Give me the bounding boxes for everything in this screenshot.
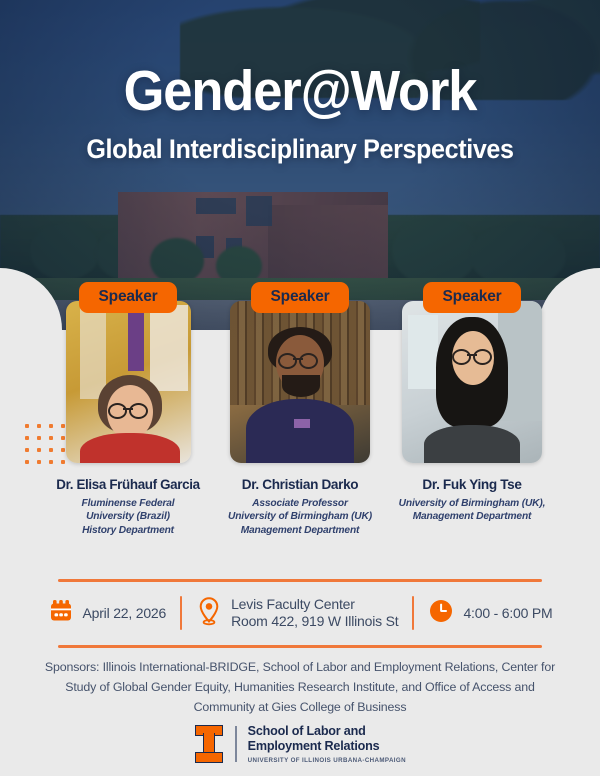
logo-line-1: School of Labor and bbox=[248, 724, 406, 739]
speaker-name: Dr. Fuk Ying Tse bbox=[422, 477, 521, 492]
logo-divider bbox=[235, 726, 237, 762]
detail-location: Levis Faculty Center Room 422, 919 W Ill… bbox=[182, 596, 412, 631]
speaker-card: Speaker Dr. Christian Darko Associate Pr… bbox=[226, 282, 374, 537]
speaker-badge: Speaker bbox=[423, 282, 522, 313]
speaker-affiliation: Fluminense FederalUniversity (Brazil)His… bbox=[82, 497, 175, 537]
speaker-affiliation: University of Birmingham (UK),Management… bbox=[399, 497, 546, 524]
poster-subtitle: Global Interdisciplinary Perspectives bbox=[21, 134, 579, 165]
calendar-icon bbox=[48, 598, 74, 629]
speaker-badge: Speaker bbox=[79, 282, 178, 313]
venue-line-1: Levis Faculty Center bbox=[231, 596, 398, 613]
poster-title: Gender@Work bbox=[24, 62, 576, 120]
logo-line-2: Employment Relations bbox=[248, 739, 406, 754]
illinois-block-i-logo bbox=[194, 724, 224, 764]
title-block: Gender@Work Global Interdisciplinary Per… bbox=[0, 62, 600, 165]
detail-time: 4:00 - 6:00 PM bbox=[414, 598, 566, 629]
detail-date: April 22, 2026 bbox=[34, 598, 181, 629]
divider-rule-bottom bbox=[58, 645, 542, 648]
speaker-photo bbox=[230, 301, 370, 463]
speaker-badge: Speaker bbox=[251, 282, 350, 313]
logo-line-3: UNIVERSITY OF ILLINOIS URBANA-CHAMPAIGN bbox=[248, 757, 406, 764]
speaker-photo bbox=[66, 301, 191, 463]
location-pin-icon bbox=[196, 596, 222, 631]
sponsors-text: Sponsors: Illinois International-BRIDGE,… bbox=[42, 657, 558, 717]
footer-logo-block: School of Labor and Employment Relations… bbox=[0, 724, 600, 764]
speaker-name: Dr. Elisa Frühauf Garcia bbox=[56, 477, 199, 492]
event-details: April 22, 2026 Levis Faculty Center Room… bbox=[0, 589, 600, 637]
divider-rule-top bbox=[58, 579, 542, 582]
speaker-card: Speaker Dr. Elisa Frühauf Garcia Flumine… bbox=[54, 282, 202, 537]
speaker-card: Speaker Dr. Fuk Ying Tse University of B… bbox=[398, 282, 546, 537]
time-text: 4:00 - 6:00 PM bbox=[463, 605, 552, 622]
logo-wordmark: School of Labor and Employment Relations… bbox=[248, 724, 406, 764]
speaker-affiliation: Associate ProfessorUniversity of Birming… bbox=[228, 497, 372, 537]
venue-line-2: Room 422, 919 W Illinois St bbox=[231, 613, 398, 630]
speaker-photo bbox=[402, 301, 542, 463]
speaker-list: Speaker Dr. Elisa Frühauf Garcia Flumine… bbox=[0, 282, 600, 537]
venue-text: Levis Faculty Center Room 422, 919 W Ill… bbox=[231, 596, 398, 630]
clock-icon bbox=[428, 598, 454, 629]
date-text: April 22, 2026 bbox=[83, 605, 167, 622]
speaker-name: Dr. Christian Darko bbox=[242, 477, 358, 492]
event-poster: Gender@Work Global Interdisciplinary Per… bbox=[0, 0, 600, 776]
